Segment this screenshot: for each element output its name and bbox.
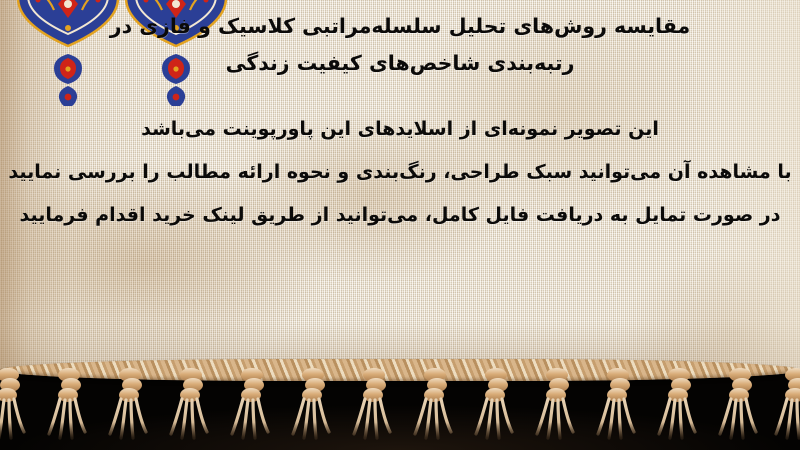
bottom-black-band [0, 370, 800, 450]
slide-canvas: مقایسه روش‌های تحلیل سلسله‌مراتبی کلاسیک… [0, 0, 800, 450]
carpet-selvedge-rope [0, 359, 800, 381]
slide-body-line-1: این تصویر نمونه‌ای از اسلایدهای این پاور… [8, 108, 792, 151]
slide-body: این تصویر نمونه‌ای از اسلایدهای این پاور… [8, 108, 792, 237]
slide-title: مقایسه روش‌های تحلیل سلسله‌مراتبی کلاسیک… [24, 8, 776, 82]
slide-body-line-3: در صورت تمایل به دریافت فایل کامل، می‌تو… [8, 194, 792, 237]
slide-title-line-1: مقایسه روش‌های تحلیل سلسله‌مراتبی کلاسیک… [110, 14, 690, 38]
slide-text-area: مقایسه روش‌های تحلیل سلسله‌مراتبی کلاسیک… [0, 0, 800, 378]
slide-body-line-2: با مشاهده آن می‌توانید سبک طراحی، رنگ‌بن… [8, 151, 792, 194]
slide-title-line-2: رتبه‌بندی شاخص‌های کیفیت زندگی [24, 45, 776, 82]
